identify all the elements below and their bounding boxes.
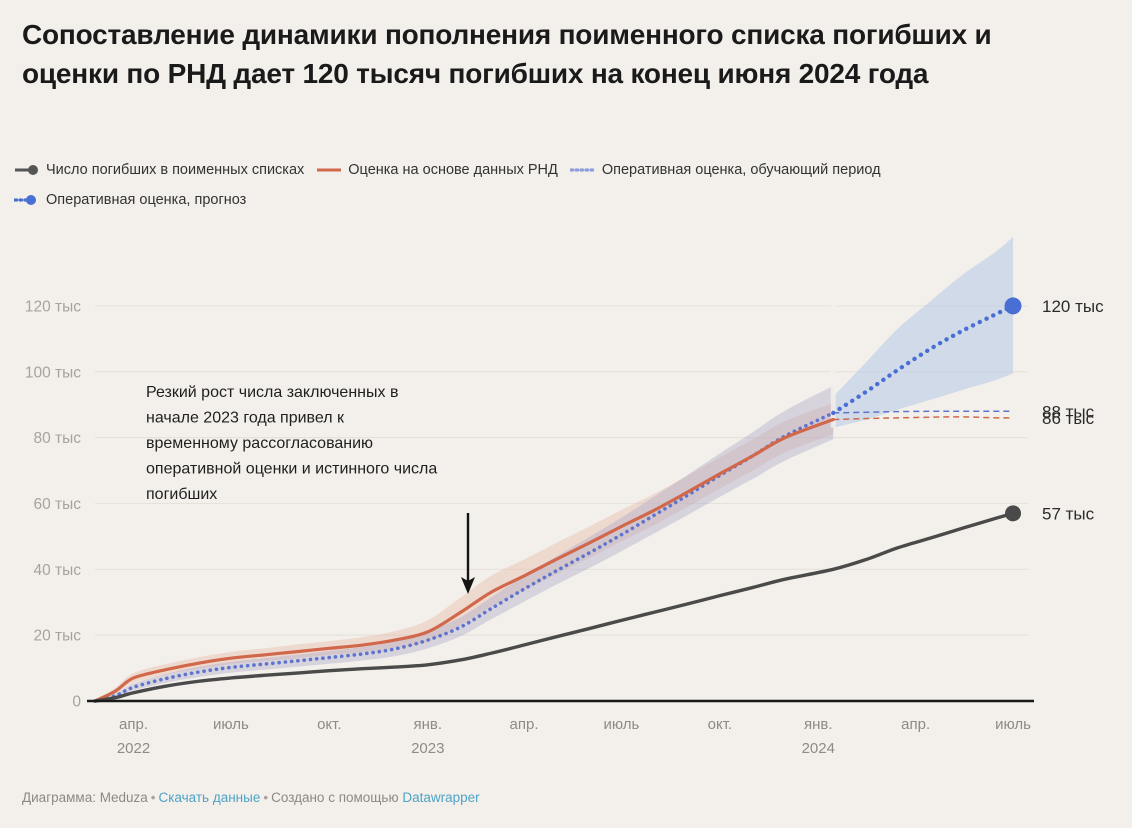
end-label: 120 тыс <box>1042 297 1104 316</box>
x-tick-year: 2024 <box>802 740 835 757</box>
y-tick-label: 80 тыс <box>33 430 81 447</box>
confidence-band <box>833 237 1013 428</box>
line-chart: 020 тыс40 тыс60 тыс80 тыс100 тыс120 тыса… <box>0 225 1132 770</box>
annotation-line: оперативной оценки и истинного числа <box>146 461 437 478</box>
chart-area: 020 тыс40 тыс60 тыс80 тыс100 тыс120 тыса… <box>0 225 1132 770</box>
annotation-line: погибших <box>146 486 217 503</box>
y-tick-label: 120 тыс <box>25 298 81 315</box>
chart-legend: Число погибших в поименных списках Оценк… <box>14 155 1064 215</box>
legend-label-1: Оценка на основе данных РНД <box>348 155 558 185</box>
x-tick-label: окт. <box>708 716 732 733</box>
x-tick-label: июль <box>213 716 249 733</box>
dotted-line-dot-icon <box>14 193 40 207</box>
x-tick-label: апр. <box>119 716 148 733</box>
confidence-band <box>95 386 833 701</box>
x-tick-label: янв. <box>413 716 442 733</box>
page-title: Сопоставление динамики пополнения поимен… <box>22 16 1082 93</box>
legend-label-0: Число погибших в поименных списках <box>46 155 304 185</box>
x-tick-label: окт. <box>317 716 341 733</box>
legend-label-2: Оперативная оценка, обучающий период <box>602 155 881 185</box>
line-icon <box>316 163 342 177</box>
footer-bullet-2: • <box>260 790 271 805</box>
y-tick-label: 20 тыс <box>33 628 81 645</box>
x-axis-labels: апр.2022июльокт.янв.2023апр.июльокт.янв.… <box>117 716 1031 757</box>
y-axis-labels: 020 тыс40 тыс60 тыс80 тыс100 тыс120 тыс <box>25 298 82 710</box>
x-tick-year: 2022 <box>117 740 150 757</box>
end-labels: 120 тыс88 тыс86 тыс57 тыс <box>1042 297 1104 523</box>
end-dot-named-lists <box>1005 505 1021 521</box>
x-tick-label: июль <box>995 716 1031 733</box>
annotation-line: начале 2023 года привел к <box>146 410 345 427</box>
annotation: Резкий рост числа заключенных вначале 20… <box>146 384 475 594</box>
legend-item-operative-forecast[interactable]: Оперативная оценка, прогноз <box>14 185 246 215</box>
y-tick-label: 0 <box>72 694 81 711</box>
x-tick-year: 2023 <box>411 740 444 757</box>
end-label: 57 тыс <box>1042 504 1095 523</box>
y-tick-label: 60 тыс <box>33 496 81 513</box>
annotation-line: временному рассогласованию <box>146 435 373 452</box>
y-tick-label: 40 тыс <box>33 562 81 579</box>
chart-footer: Диаграмма: Meduza•Скачать данные•Создано… <box>22 790 480 805</box>
y-tick-label: 100 тыс <box>25 364 81 381</box>
legend-item-rnd-estimate[interactable]: Оценка на основе данных РНД <box>316 155 558 185</box>
end-dot-forecast <box>1005 297 1022 314</box>
footer-credit: Создано с помощью <box>271 790 398 805</box>
footer-bullet-1: • <box>148 790 159 805</box>
footer-source: Диаграмма: Meduza <box>22 790 148 805</box>
x-tick-label: апр. <box>510 716 539 733</box>
download-data-link[interactable]: Скачать данные <box>158 790 260 805</box>
x-tick-label: апр. <box>901 716 930 733</box>
end-label: 86 тыс <box>1042 409 1095 428</box>
annotation-line: Резкий рост числа заключенных в <box>146 384 398 401</box>
legend-item-operative-training[interactable]: Оперативная оценка, обучающий период <box>570 155 881 185</box>
dotted-line-icon <box>570 163 596 177</box>
legend-label-3: Оперативная оценка, прогноз <box>46 185 246 215</box>
series-line-named-lists <box>95 513 1013 701</box>
x-tick-label: июль <box>603 716 639 733</box>
line-dot-icon <box>14 163 40 177</box>
legend-item-named-lists[interactable]: Число погибших в поименных списках <box>14 155 304 185</box>
chart-page: Сопоставление динамики пополнения поимен… <box>0 0 1132 828</box>
x-tick-label: янв. <box>804 716 833 733</box>
datawrapper-link[interactable]: Datawrapper <box>402 790 479 805</box>
